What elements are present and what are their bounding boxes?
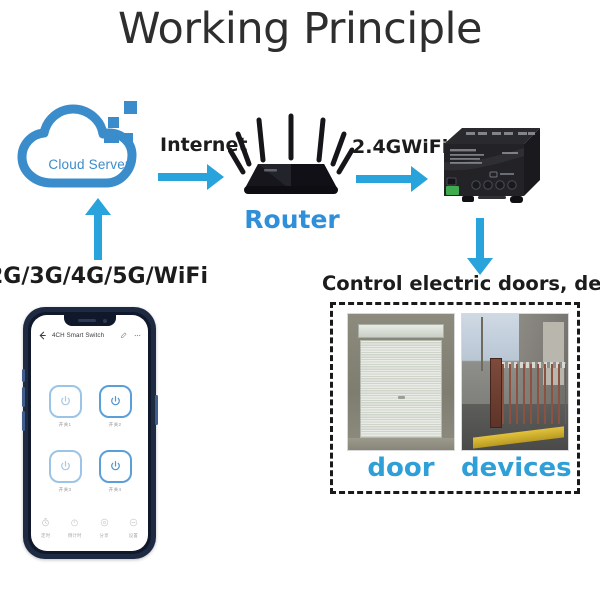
arrow-module-to-devices	[467, 218, 493, 274]
app-tab-bar: 定时 倒计时 分享	[31, 514, 148, 540]
tab-label-share: 分享	[91, 533, 117, 539]
power-icon	[59, 395, 72, 408]
timer-icon	[41, 518, 50, 527]
countdown-icon	[70, 518, 79, 527]
diagram-canvas: Working Principle Cloud Server Internet	[0, 0, 600, 600]
router-node	[228, 112, 354, 204]
device-photo-group: door devices	[330, 302, 580, 494]
smartphone-mockup: 4CH Smart Switch	[23, 307, 156, 559]
device-item-devices: devices	[461, 313, 569, 483]
app-header: 4CH Smart Switch	[31, 328, 148, 343]
earpiece-speaker	[78, 319, 96, 322]
cloud-server-label: Cloud Server	[34, 157, 144, 172]
phone-screen: 4CH Smart Switch	[31, 315, 148, 551]
edit-icon[interactable]	[120, 332, 127, 339]
front-camera	[103, 319, 107, 323]
device-caption-devices: devices	[461, 453, 569, 483]
cloud-server-node: Cloud Server	[8, 95, 158, 195]
switch-cell-3: 开关3	[45, 450, 85, 493]
phone-button-volume-down	[22, 411, 25, 431]
router-icon	[228, 112, 354, 204]
switch-button-4[interactable]	[99, 450, 132, 483]
switch-label-1: 开关1	[45, 422, 85, 428]
tab-timer[interactable]: 定时	[33, 514, 59, 540]
roller-shutter-door-photo	[347, 313, 455, 451]
device-caption-door: door	[347, 453, 455, 483]
switch-button-2[interactable]	[99, 385, 132, 418]
phone-button-volume-up	[22, 387, 25, 407]
arrow-cloud-to-router	[158, 164, 224, 190]
switch-button-1[interactable]	[49, 385, 82, 418]
phone-button-mute	[22, 369, 25, 382]
smart-switch-module-node	[432, 122, 544, 214]
phone-button-power	[155, 395, 158, 425]
switch-button-3[interactable]	[49, 450, 82, 483]
retractable-gate-photo	[461, 313, 569, 451]
power-icon	[59, 460, 72, 473]
tab-label-countdown: 倒计时	[62, 533, 88, 539]
router-label: Router	[222, 205, 362, 234]
cloud-icon	[8, 95, 158, 195]
share-icon	[100, 518, 109, 527]
tab-countdown[interactable]: 倒计时	[62, 514, 88, 540]
switch-grid: 开关1 开关2	[45, 385, 135, 493]
smart-switch-module-icon	[432, 122, 544, 214]
device-item-door: door	[347, 313, 455, 483]
power-icon	[109, 395, 122, 408]
switch-label-2: 开关2	[95, 422, 135, 428]
switch-label-4: 开关4	[95, 487, 135, 493]
phone-bezel: 4CH Smart Switch	[28, 312, 151, 554]
tab-settings[interactable]: 设置	[120, 514, 146, 540]
settings-icon	[129, 518, 138, 527]
more-options-icon[interactable]	[134, 332, 141, 339]
tab-share[interactable]: 分享	[91, 514, 117, 540]
control-section-caption: Control electric doors, devices	[322, 272, 600, 295]
phone-notch	[64, 315, 116, 326]
arrow-router-to-module	[356, 166, 428, 192]
page-title: Working Principle	[0, 4, 600, 54]
tab-label-settings: 设置	[120, 533, 146, 539]
arrow-phone-to-cloud	[85, 198, 111, 260]
tab-label-timer: 定时	[33, 533, 59, 539]
switch-label-3: 开关3	[45, 487, 85, 493]
switch-cell-2: 开关2	[95, 385, 135, 428]
switch-cell-1: 开关1	[45, 385, 85, 428]
edge-label-cellular: 2G/3G/4G/5G/WiFi	[0, 264, 208, 289]
app-title: 4CH Smart Switch	[52, 332, 104, 339]
power-icon	[109, 460, 122, 473]
switch-cell-4: 开关4	[95, 450, 135, 493]
back-arrow-icon[interactable]	[38, 331, 47, 340]
